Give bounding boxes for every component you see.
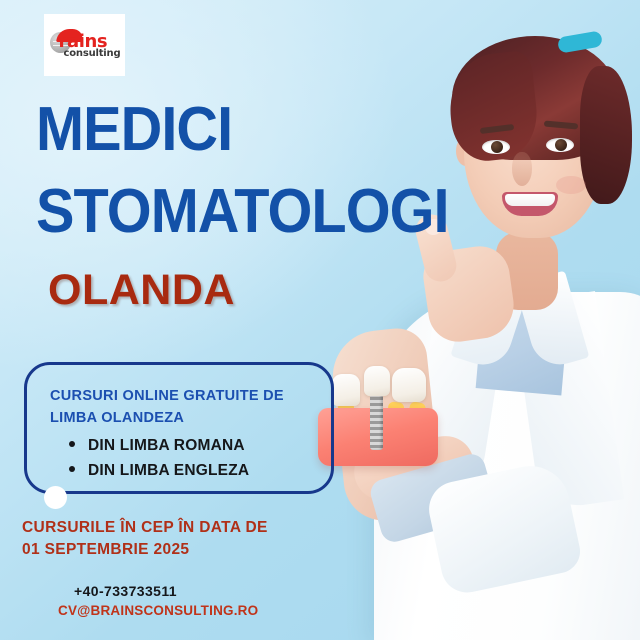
dentist-photo [330,0,640,640]
dental-recruitment-poster: rains consulting MEDICI STOMATOLOGI OLAN… [0,0,640,640]
contact-email[interactable]: CV@BRAINSCONSULTING.RO [58,603,258,618]
start-date-line-1: CURSURILE ÎN CEP ÎN DATA DE [22,517,362,539]
course-language-list: DIN LIMBA ROMANA DIN LIMBA ENGLEZA [69,433,249,483]
country-subheadline: OLANDA [48,266,235,315]
cheek [556,176,586,194]
pupil-left [491,141,503,153]
implant-screw [370,394,383,450]
list-item: DIN LIMBA ROMANA [69,433,249,458]
tooth-crown [332,374,360,406]
start-date-block: CURSURILE ÎN CEP ÎN DATA DE 01 SEPTEMBRI… [22,517,362,562]
list-item: DIN LIMBA ENGLEZA [69,458,249,483]
contact-phone[interactable]: +40-733733511 [74,583,177,599]
hair-side [580,66,632,204]
brains-consulting-logo[interactable]: rains consulting [44,14,125,76]
headline-line-1: MEDICI [36,103,232,156]
pupil-right [555,139,567,151]
decorative-dot [44,486,67,509]
course-info-box: CURSURI ONLINE GRATUITE DE LIMBA OLANDEZ… [24,362,334,494]
start-date-line-2: 01 SEPTEMBRIE 2025 [22,539,362,561]
logo-tagline-text: consulting [64,48,121,59]
tooth-crown [392,368,426,402]
smiling-mouth [502,192,558,216]
nose [512,152,532,186]
teeth [505,194,555,206]
tooth-crown [364,366,390,396]
course-info-title: CURSURI ONLINE GRATUITE DE LIMBA OLANDEZ… [50,385,316,430]
logo-mark: rains consulting [49,27,121,63]
headline-line-2: STOMATOLOGI [36,185,449,238]
